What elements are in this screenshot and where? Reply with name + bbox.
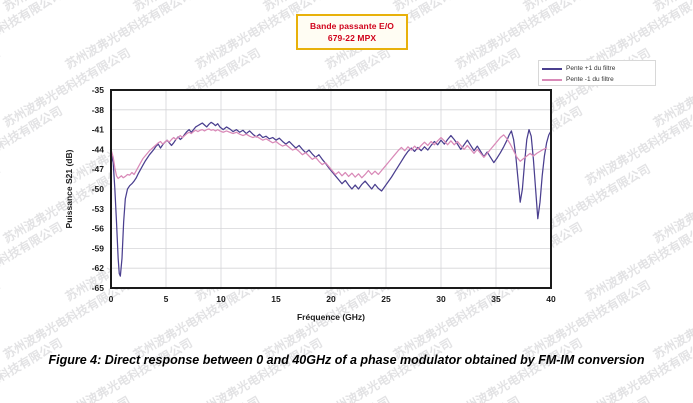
y-axis-tick-label: -50: [92, 184, 105, 194]
legend-swatch-pente-minus1: [542, 79, 562, 81]
x-axis-tick-label: 30: [436, 294, 446, 304]
figure-page: 苏州波弗光电科技有限公司苏州波弗光电科技有限公司苏州波弗光电科技有限公司苏州波弗…: [0, 0, 693, 403]
y-axis-tick-label: -65: [92, 283, 105, 293]
y-axis-tick-label: -35: [92, 85, 105, 95]
chart-title-line2: 679-22 MPX: [328, 32, 376, 44]
x-axis-tick-label: 0: [109, 294, 114, 304]
legend-item-pente-plus1: Pente +1 du filtre: [542, 63, 652, 74]
y-axis-tick-label: -62: [92, 263, 105, 273]
x-axis-tick-label: 5: [164, 294, 169, 304]
x-axis-tick-label: 15: [271, 294, 281, 304]
chart-legend: Pente +1 du filtre Pente -1 du filtre: [538, 60, 656, 86]
x-axis-tick-label: 20: [326, 294, 336, 304]
y-axis-tick-label: -47: [92, 164, 105, 174]
legend-label-pente-plus1: Pente +1 du filtre: [566, 65, 615, 72]
y-axis-tick-label: -41: [92, 125, 105, 135]
legend-item-pente-minus1: Pente -1 du filtre: [542, 74, 652, 85]
y-axis-title: Puissance S21 (dB): [64, 149, 74, 228]
x-axis-tick-label: 40: [546, 294, 556, 304]
chart-title-box: Bande passante E/O 679-22 MPX: [296, 14, 408, 50]
x-axis-title: Fréquence (GHz): [297, 312, 365, 322]
legend-label-pente-minus1: Pente -1 du filtre: [566, 76, 614, 83]
x-axis-tick-label: 25: [381, 294, 391, 304]
y-axis-tick-label: -56: [92, 224, 105, 234]
figure-caption: Figure 4: Direct response between 0 and …: [30, 352, 663, 369]
y-axis-tick-label: -44: [92, 144, 105, 154]
y-axis-tick-label: -53: [92, 204, 105, 214]
x-axis-tick-label: 35: [491, 294, 501, 304]
x-axis-tick-label: 10: [216, 294, 226, 304]
chart-title-line1: Bande passante E/O: [310, 20, 394, 32]
y-axis-tick-label: -38: [92, 105, 105, 115]
legend-swatch-pente-plus1: [542, 68, 562, 70]
y-axis-tick-label: -59: [92, 243, 105, 253]
